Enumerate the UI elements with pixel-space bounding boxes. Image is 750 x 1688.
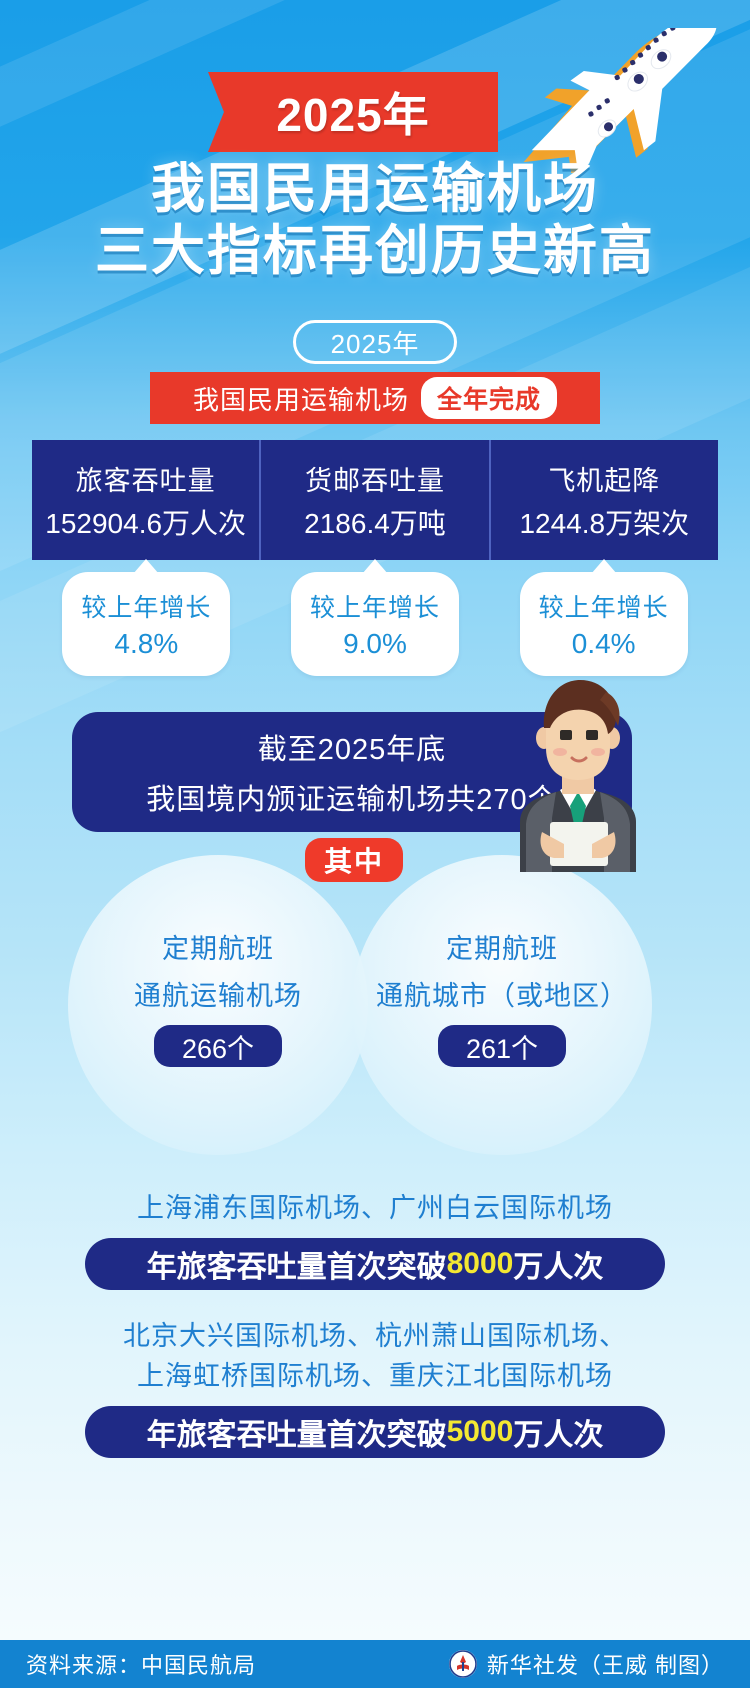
- stat-label: 飞机起降: [548, 459, 660, 498]
- stat-cell-passengers: 旅客吞吐量 152904.6万人次: [32, 440, 261, 560]
- airport-block-5000: 北京大兴国际机场、杭州萧山国际机场、 上海虹桥国际机场、重庆江北国际机场 年旅客…: [0, 1316, 750, 1458]
- brand-credit: 新华社发（王威 制图）: [449, 1648, 724, 1680]
- year-pill-label: 2025年: [331, 324, 420, 361]
- airport-names-line-1: 上海浦东国际机场、广州白云国际机场: [0, 1188, 750, 1228]
- circle-line-2: 通航城市（或地区）: [352, 974, 652, 1013]
- circle-badge: 261个: [438, 1025, 566, 1067]
- airport-names: 北京大兴国际机场、杭州萧山国际机场、 上海虹桥国际机场、重庆江北国际机场: [0, 1316, 750, 1396]
- red-subtitle-bar: 我国民用运输机场 全年完成: [150, 372, 600, 424]
- stat-label: 旅客吞吐量: [76, 459, 216, 498]
- growth-label: 较上年增长: [310, 588, 440, 624]
- source-text: 资料来源：中国民航局: [26, 1648, 256, 1680]
- airport-names: 上海浦东国际机场、广州白云国际机场: [0, 1188, 750, 1228]
- infographic-poster: 2025年 我国民用运输机场 三大指标再创历史新高: [0, 0, 750, 1688]
- airport-block-8000: 上海浦东国际机场、广州白云国际机场 年旅客吞吐量首次突破8000万人次: [0, 1188, 750, 1290]
- milestone-suffix: 万人次: [513, 1410, 603, 1454]
- among-badge: 其中: [305, 838, 403, 882]
- milestone-number: 8000: [447, 1247, 514, 1281]
- businessman-illustration: [498, 672, 658, 872]
- growth-bubble-wrap: 较上年增长 4.8%: [32, 572, 261, 680]
- circle-line-1: 定期航班: [352, 927, 652, 966]
- milestone-prefix: 年旅客吞吐量首次突破: [147, 1410, 447, 1454]
- milestone-pill-5000: 年旅客吞吐量首次突破5000万人次: [85, 1406, 665, 1458]
- full-year-badge: 全年完成: [421, 377, 557, 419]
- growth-label: 较上年增长: [539, 588, 669, 624]
- growth-value: 9.0%: [343, 628, 407, 660]
- circle-line-1: 定期航班: [68, 927, 368, 966]
- title-line-1: 我国民用运输机场: [0, 158, 750, 220]
- milestone-suffix: 万人次: [513, 1242, 603, 1286]
- growth-bubble-wrap: 较上年增长 0.4%: [489, 572, 718, 680]
- airport-names-line-2: 上海虹桥国际机场、重庆江北国际机场: [0, 1356, 750, 1396]
- year-ribbon-banner: 2025年: [208, 72, 498, 152]
- circle-badge: 266个: [154, 1025, 282, 1067]
- stat-value: 1244.8万架次: [519, 502, 689, 542]
- milestone-prefix: 年旅客吞吐量首次突破: [147, 1242, 447, 1286]
- footer-bar: 资料来源：中国民航局 新华社发（王威 制图）: [0, 1640, 750, 1688]
- airport-names-line-1: 北京大兴国际机场、杭州萧山国际机场、: [0, 1316, 750, 1356]
- airplane-icon: [478, 28, 750, 178]
- red-subtitle-text: 我国民用运输机场: [193, 380, 409, 417]
- among-label: 其中: [324, 840, 384, 880]
- callout-line-2: 我国境内颁证运输机场共270个: [146, 776, 557, 818]
- circle-left-content: 定期航班 通航运输机场 266个: [68, 927, 368, 1067]
- stat-cell-cargo: 货邮吞吐量 2186.4万吨: [261, 440, 490, 560]
- year-ribbon-label: 2025年: [276, 79, 429, 145]
- circle-line-2: 通航运输机场: [68, 974, 368, 1013]
- milestone-pill-8000: 年旅客吞吐量首次突破8000万人次: [85, 1238, 665, 1290]
- stat-label: 货邮吞吐量: [305, 459, 445, 498]
- growth-value: 0.4%: [572, 628, 636, 660]
- growth-bubble-passengers: 较上年增长 4.8%: [62, 572, 230, 676]
- stats-bar: 旅客吞吐量 152904.6万人次 货邮吞吐量 2186.4万吨 飞机起降 12…: [32, 440, 718, 560]
- growth-bubble-movements: 较上年增长 0.4%: [520, 572, 688, 676]
- title-line-2: 三大指标再创历史新高: [0, 220, 750, 282]
- xinhua-logo-icon: [449, 1650, 477, 1678]
- callout-line-1: 截至2025年底: [258, 726, 447, 768]
- circle-right-content: 定期航班 通航城市（或地区） 261个: [352, 927, 652, 1067]
- page-title: 我国民用运输机场 三大指标再创历史新高: [0, 158, 750, 282]
- milestone-number: 5000: [447, 1415, 514, 1449]
- stat-value: 152904.6万人次: [45, 502, 246, 542]
- growth-label: 较上年增长: [81, 588, 211, 624]
- year-pill: 2025年: [293, 320, 457, 364]
- stat-value: 2186.4万吨: [304, 502, 446, 542]
- stat-cell-movements: 飞机起降 1244.8万架次: [491, 440, 718, 560]
- growth-bubble-wrap: 较上年增长 9.0%: [261, 572, 490, 680]
- growth-bubble-cargo: 较上年增长 9.0%: [291, 572, 459, 676]
- circles-section: 定期航班 通航运输机场 266个 定期航班 通航城市（或地区） 261个: [0, 855, 750, 1155]
- growth-bubbles: 较上年增长 4.8% 较上年增长 9.0% 较上年增长 0.4%: [32, 572, 718, 680]
- growth-value: 4.8%: [114, 628, 178, 660]
- brand-text: 新华社发（王威 制图）: [487, 1648, 724, 1680]
